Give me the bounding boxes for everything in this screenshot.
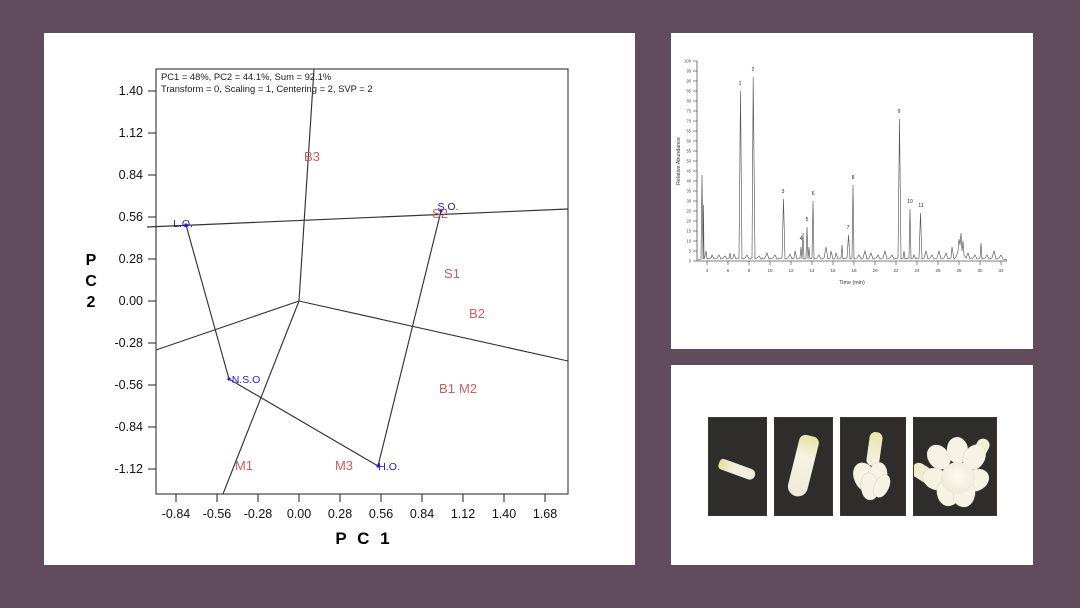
sample-label-b3: B3 — [304, 149, 320, 164]
chrom-x-ticks — [707, 261, 1001, 265]
x-tick-label: 1.68 — [533, 507, 557, 521]
chrom-y-tick-label: 0 — [689, 259, 692, 264]
biplot-annotation-line-2: Transform = 0, Scaling = 1, Centering = … — [161, 83, 373, 94]
y-tick-label: 0.84 — [119, 168, 143, 182]
x-tick-label: 1.40 — [492, 507, 516, 521]
hull-edge-left — [186, 225, 229, 379]
peak-labels: 1 2 3 4 5 6 7 8 9 10 11 — [739, 67, 924, 242]
x-tick-label: 1.12 — [451, 507, 475, 521]
x-tick-label: 0.56 — [369, 507, 393, 521]
chrom-y-tick-label: 30 — [686, 199, 691, 204]
peak-label-3: 3 — [782, 189, 785, 195]
sample-label-m3: M3 — [335, 458, 353, 473]
chrom-x-tick-label: 4 — [706, 268, 709, 273]
biplot-annotation-line-1: PC1 = 48%, PC2 = 44.1%, Sum = 92.1% — [161, 71, 331, 82]
chrom-y-tick-label: 65 — [686, 129, 691, 134]
chrom-x-tick-label: 26 — [935, 268, 941, 273]
chrom-y-tick-label: 40 — [686, 179, 691, 184]
divider-ray-west — [156, 301, 299, 350]
photo-stage-1-young-bud — [708, 417, 767, 516]
pca-biplot-panel: PC1 = 48%, PC2 = 44.1%, Sum = 92.1% Tran… — [44, 33, 635, 565]
chromatogram-panel: 0 5 10 15 20 25 30 35 40 45 50 55 60 65 … — [671, 33, 1033, 349]
convex-hull-lines — [147, 209, 568, 466]
divider-ray-east — [299, 301, 568, 361]
sample-label-s2: S2 — [432, 206, 448, 221]
y-tick-label: 0.56 — [119, 210, 143, 224]
chrom-y-tick-label: 85 — [686, 89, 691, 94]
bud-shape — [717, 458, 756, 481]
photo-stage-2-mature-bud — [774, 417, 833, 516]
chrom-x-tick-label: 20 — [872, 268, 878, 273]
pca-biplot-chart: PC1 = 48%, PC2 = 44.1%, Sum = 92.1% Tran… — [44, 33, 635, 565]
y-axis-title: P C 2 — [85, 252, 97, 311]
peak-label-10: 10 — [907, 199, 913, 205]
x-tick-label: 0.00 — [287, 507, 311, 521]
chrom-x-tick-labels: 4 6 8 10 12 14 16 18 20 22 24 26 28 30 3… — [706, 268, 1004, 273]
y-axis-title-char-3: 2 — [87, 294, 96, 311]
chrom-x-tick-label: 12 — [788, 268, 794, 273]
chrom-y-tick-label: 95 — [686, 69, 691, 74]
chrom-y-tick-label: 10 — [686, 239, 691, 244]
chrom-x-tick-label: 30 — [977, 268, 983, 273]
chrom-x-axis-title: Time (min) — [839, 280, 865, 286]
chrom-x-tick-label: 14 — [809, 268, 815, 273]
peak-label-1: 1 — [739, 81, 742, 87]
chrom-y-tick-label: 90 — [686, 79, 691, 84]
vertex-label-lo: L.O. — [173, 218, 193, 230]
sample-label-b2: B2 — [469, 306, 485, 321]
sample-label-m2: M2 — [459, 381, 477, 396]
hull-edge-top — [147, 209, 568, 227]
hull-edge-right — [378, 211, 441, 466]
peak-label-7: 7 — [847, 225, 850, 231]
chrom-y-tick-label: 70 — [686, 119, 691, 124]
flower-core — [941, 462, 975, 494]
vertex-label-ho: H.O. — [378, 461, 400, 473]
figure-canvas: PC1 = 48%, PC2 = 44.1%, Sum = 92.1% Tran… — [0, 0, 1080, 608]
chrom-y-tick-label: 75 — [686, 109, 691, 114]
trace-path — [698, 77, 1007, 260]
chrom-x-tick-label: 32 — [998, 268, 1004, 273]
chrom-x-tick-label: 8 — [748, 268, 751, 273]
chrom-y-tick-label: 50 — [686, 159, 691, 164]
chrom-x-tick-label: 10 — [767, 268, 773, 273]
y-axis-tick-labels: 1.40 1.12 0.84 0.56 0.28 0.00 -0.28 -0.5… — [115, 84, 144, 476]
chrom-x-tick-label: 22 — [893, 268, 899, 273]
y-tick-label: -1.12 — [115, 462, 144, 476]
loading-vertices: L.O. S.O. N.S.O H.O. — [173, 201, 458, 473]
flower-stages-panel — [671, 365, 1033, 565]
y-tick-label: -0.84 — [115, 420, 144, 434]
sample-label-m1: M1 — [235, 458, 253, 473]
x-axis-tick-labels: -0.84 -0.56 -0.28 0.00 0.28 0.56 0.84 1.… — [162, 507, 557, 521]
flower-photo-row — [671, 417, 1033, 516]
chrom-y-tick-labels: 0 5 10 15 20 25 30 35 40 45 50 55 60 65 … — [684, 59, 692, 264]
x-axis-title: P C 1 — [335, 529, 392, 548]
x-tick-label: -0.56 — [203, 507, 232, 521]
x-tick-label: 0.28 — [328, 507, 352, 521]
y-tick-label: -0.56 — [115, 378, 144, 392]
sector-divider-rays — [156, 69, 568, 494]
y-axis-ticks — [148, 91, 156, 469]
plot-frame — [156, 69, 568, 494]
x-tick-label: 0.84 — [410, 507, 434, 521]
peak-label-11: 11 — [918, 203, 923, 209]
photo-stage-3-opening-flower — [840, 417, 906, 516]
chrom-y-tick-label: 60 — [686, 139, 691, 144]
vertex-label-nso: N.S.O — [232, 374, 261, 386]
bud-shape — [785, 434, 819, 499]
chrom-y-tick-label: 35 — [686, 189, 691, 194]
chrom-x-tick-label: 24 — [914, 268, 920, 273]
peak-label-6: 6 — [812, 191, 815, 197]
chrom-x-tick-label: 16 — [830, 268, 836, 273]
y-axis-title-char-2: C — [85, 273, 97, 290]
chrom-y-tick-label: 5 — [689, 249, 692, 254]
peak-label-4: 4 — [800, 236, 803, 242]
chrom-y-tick-label: 55 — [686, 149, 691, 154]
chrom-y-tick-label: 20 — [686, 219, 691, 224]
y-tick-label: 0.28 — [119, 252, 143, 266]
divider-ray-north — [299, 69, 314, 301]
chrom-y-tick-label: 45 — [686, 169, 691, 174]
peak-label-8: 8 — [852, 175, 855, 181]
x-axis-ticks — [176, 494, 545, 502]
y-tick-label: 0.00 — [119, 294, 143, 308]
chrom-x-tick-label: 6 — [727, 268, 730, 273]
peak-label-9: 9 — [898, 109, 901, 115]
peak-label-5: 5 — [806, 217, 809, 223]
photo-stage-4-full-bloom — [913, 417, 997, 516]
chrom-y-tick-label: 80 — [686, 99, 691, 104]
chrom-x-tick-label: 18 — [851, 268, 857, 273]
chrom-y-ticks — [693, 61, 697, 261]
y-tick-label: -0.28 — [115, 336, 144, 350]
sample-label-b1: B1 — [439, 381, 455, 396]
chrom-y-tick-label: 100 — [684, 59, 692, 64]
chrom-y-axis-title: Relative Abundance — [676, 137, 682, 185]
vertex-marker — [227, 377, 230, 380]
sample-label-s1: S1 — [444, 266, 460, 281]
x-tick-label: -0.84 — [162, 507, 191, 521]
y-tick-label: 1.40 — [119, 84, 143, 98]
sample-labels: B3 S2 S1 B2 B1 M2 M1 M3 — [235, 149, 485, 473]
x-tick-label: -0.28 — [244, 507, 273, 521]
chromatogram-trace — [698, 77, 1007, 260]
chrom-y-tick-label: 15 — [686, 229, 691, 234]
y-axis-title-char-1: P — [86, 252, 97, 269]
chrom-y-tick-label: 25 — [686, 209, 691, 214]
peak-label-2: 2 — [752, 67, 755, 73]
y-tick-label: 1.12 — [119, 126, 143, 140]
gc-ms-chromatogram-chart: 0 5 10 15 20 25 30 35 40 45 50 55 60 65 … — [671, 33, 1033, 349]
chrom-x-tick-label: 28 — [956, 268, 962, 273]
